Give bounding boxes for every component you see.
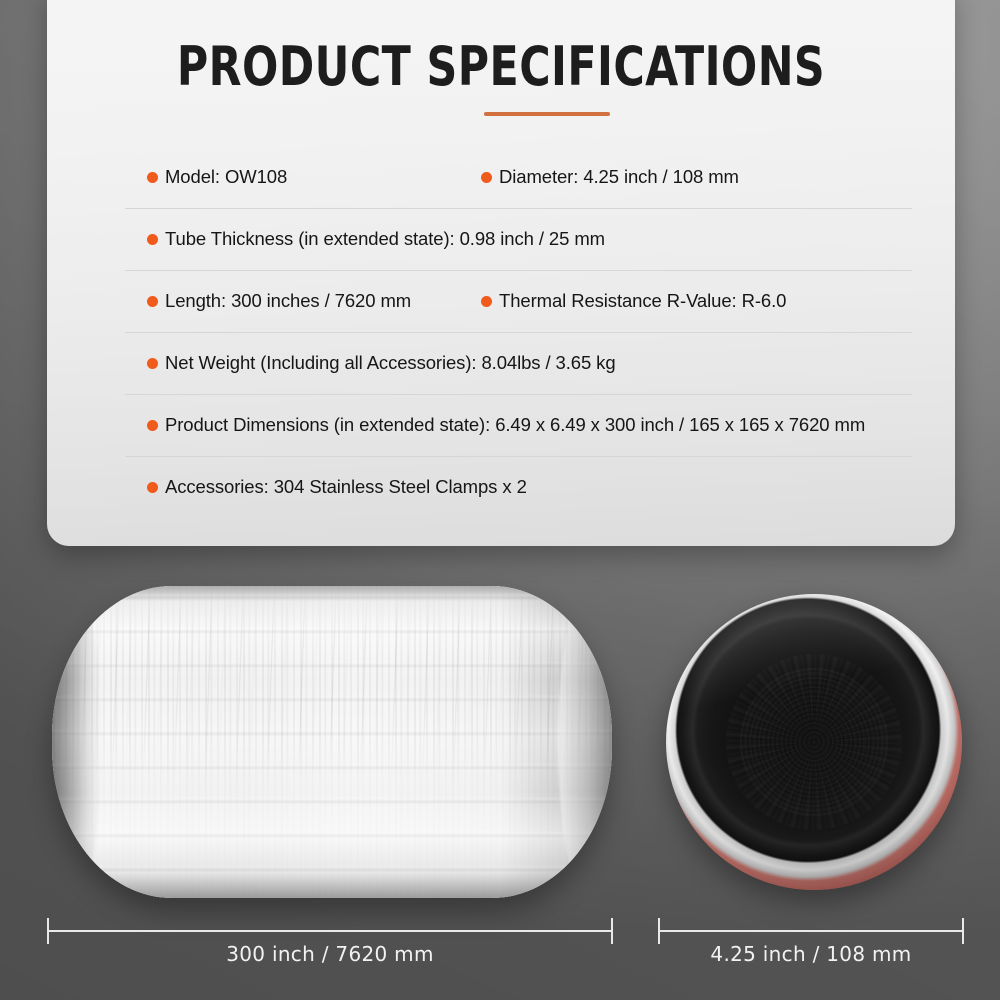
spec-text: Net Weight (Including all Accessories): … (165, 352, 616, 374)
spec-item-net-weight: Net Weight (Including all Accessories): … (147, 352, 616, 374)
spec-text: Product Dimensions (in extended state): … (165, 414, 865, 436)
product-spec-page: PRODUCT SPECIFICATIONS Model: OW108 Diam… (0, 0, 1000, 1000)
spec-row: Length: 300 inches / 7620 mm Thermal Res… (47, 270, 955, 332)
duct-cross-section-shading (666, 594, 962, 890)
bullet-icon (147, 482, 158, 493)
duct-side-view-image (52, 586, 612, 898)
spec-text: Accessories: 304 Stainless Steel Clamps … (165, 476, 527, 498)
dimension-label: 4.25 inch / 108 mm (658, 942, 964, 966)
spec-row: Model: OW108 Diameter: 4.25 inch / 108 m… (47, 146, 955, 208)
bullet-icon (147, 420, 158, 431)
spec-item-diameter: Diameter: 4.25 inch / 108 mm (481, 166, 739, 188)
spec-list: Model: OW108 Diameter: 4.25 inch / 108 m… (47, 146, 955, 518)
specifications-card: PRODUCT SPECIFICATIONS Model: OW108 Diam… (47, 0, 955, 546)
bullet-icon (147, 172, 158, 183)
bullet-icon (481, 172, 492, 183)
spec-row: Accessories: 304 Stainless Steel Clamps … (47, 456, 955, 518)
spec-text: Diameter: 4.25 inch / 108 mm (499, 166, 739, 188)
duct-right-rim (558, 590, 612, 894)
spec-text: Model: OW108 (165, 166, 287, 188)
dimension-diameter: 4.25 inch / 108 mm (658, 918, 964, 964)
spec-text: Tube Thickness (in extended state): 0.98… (165, 228, 605, 250)
spec-item-tube-thickness: Tube Thickness (in extended state): 0.98… (147, 228, 605, 250)
bullet-icon (481, 296, 492, 307)
duct-body (52, 586, 612, 898)
dimension-line (658, 930, 964, 932)
spec-row: Product Dimensions (in extended state): … (47, 394, 955, 456)
dimension-line (47, 930, 613, 932)
duct-cross-section-image (666, 594, 962, 890)
spec-item-model: Model: OW108 (147, 166, 287, 188)
bullet-icon (147, 234, 158, 245)
spec-text: Length: 300 inches / 7620 mm (165, 290, 411, 312)
spec-item-product-dimensions: Product Dimensions (in extended state): … (147, 414, 865, 436)
bullet-icon (147, 358, 158, 369)
spec-item-length: Length: 300 inches / 7620 mm (147, 290, 411, 312)
spec-item-accessories: Accessories: 304 Stainless Steel Clamps … (147, 476, 527, 498)
spec-item-r-value: Thermal Resistance R-Value: R-6.0 (481, 290, 786, 312)
dimension-length: 300 inch / 7620 mm (47, 918, 613, 964)
title-accent-underline (484, 112, 610, 116)
duct-foil-crinkle-secondary (52, 586, 612, 898)
product-photo-area (0, 540, 1000, 940)
spec-row: Tube Thickness (in extended state): 0.98… (47, 208, 955, 270)
bullet-icon (147, 296, 158, 307)
spec-text: Thermal Resistance R-Value: R-6.0 (499, 290, 786, 312)
dimension-label: 300 inch / 7620 mm (47, 942, 613, 966)
spec-row: Net Weight (Including all Accessories): … (47, 332, 955, 394)
page-title: PRODUCT SPECIFICATIONS (101, 40, 900, 94)
